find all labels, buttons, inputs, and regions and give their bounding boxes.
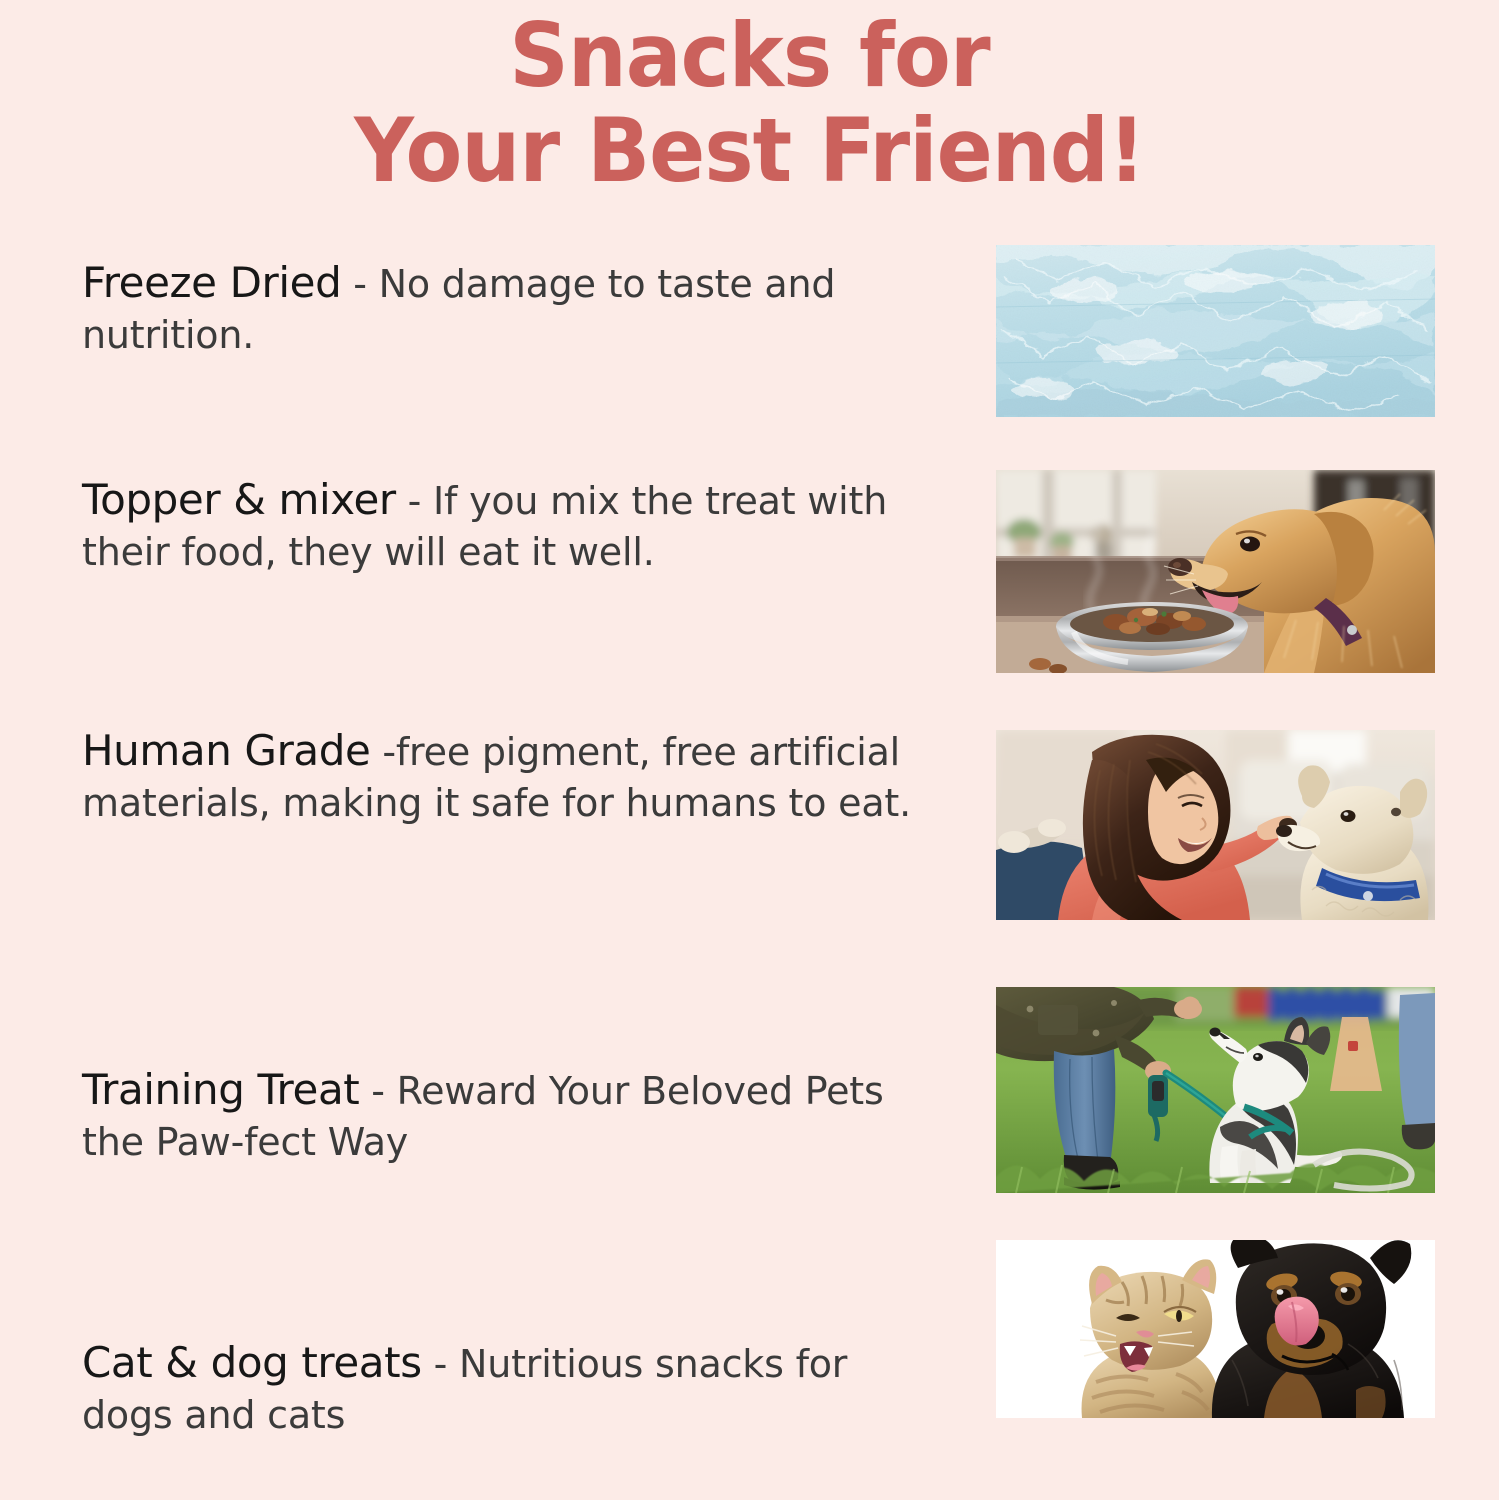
feature-text: Human Grade -free pigment, free artifici… bbox=[82, 724, 947, 828]
feature-lead: Training Treat bbox=[82, 1065, 359, 1114]
feature-lead: Cat & dog treats bbox=[82, 1338, 422, 1387]
feature-text: Topper & mixer - If you mix the treat wi… bbox=[82, 473, 947, 577]
feature-lead: Human Grade bbox=[82, 726, 370, 775]
ice-texture-photo bbox=[996, 245, 1435, 417]
golden-retriever-illustration bbox=[996, 470, 1435, 673]
cat-and-dog-photo bbox=[996, 1240, 1435, 1418]
woman-feeding-puppy-illustration bbox=[996, 730, 1435, 920]
husky-training-illustration bbox=[996, 987, 1435, 1193]
title-line-2: Your Best Friend! bbox=[45, 103, 1454, 198]
infographic-page: Snacks for Your Best Friend! Freeze Drie… bbox=[0, 0, 1499, 1500]
feature-list: Freeze Dried - No damage to taste and nu… bbox=[0, 236, 1499, 1496]
page-title: Snacks for Your Best Friend! bbox=[0, 8, 1499, 198]
cat-and-dog-illustration bbox=[996, 1240, 1435, 1418]
golden-retriever-food-bowl-photo bbox=[996, 470, 1435, 673]
feature-lead: Topper & mixer bbox=[82, 475, 396, 524]
woman-feeding-puppy-photo bbox=[996, 730, 1435, 920]
feature-lead: Freeze Dried bbox=[82, 258, 341, 307]
title-line-1: Snacks for bbox=[45, 8, 1454, 103]
feature-text: Freeze Dried - No damage to taste and nu… bbox=[82, 256, 947, 360]
feature-text: Training Treat - Reward Your Beloved Pet… bbox=[82, 1063, 947, 1167]
husky-training-on-grass-photo bbox=[996, 987, 1435, 1193]
ice-texture-illustration bbox=[996, 245, 1435, 417]
feature-text: Cat & dog treats - Nutritious snacks for… bbox=[82, 1336, 947, 1440]
